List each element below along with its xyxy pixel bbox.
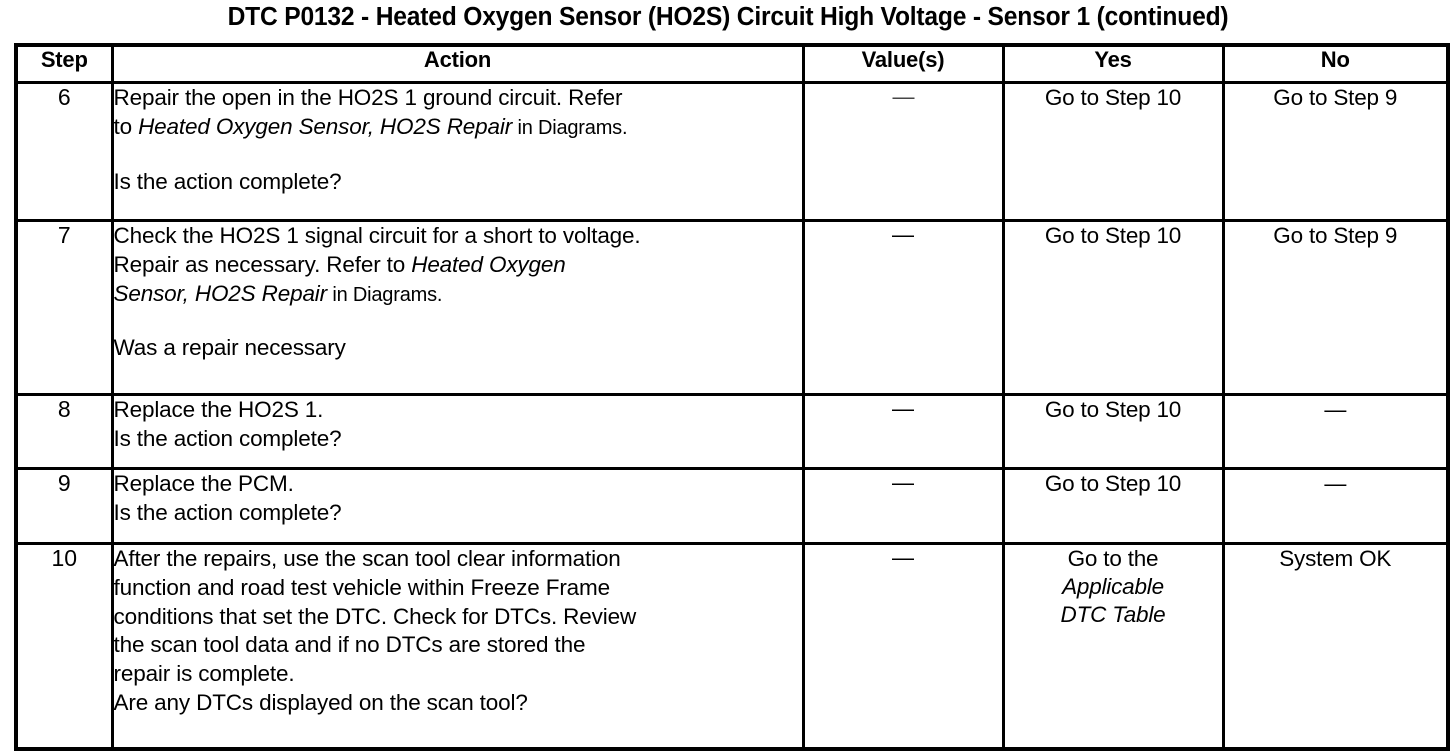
step-value: — <box>803 544 1003 749</box>
column-header-values: Value(s) <box>803 45 1003 83</box>
yes-line: Go to the <box>1005 545 1222 573</box>
action-line: the scan tool data and if no DTCs are st… <box>114 631 802 660</box>
step-no: Go to Step 9 <box>1223 221 1448 395</box>
action-line: Replace the HO2S 1. <box>114 396 802 425</box>
step-value: — <box>803 221 1003 395</box>
table-row: 9 Replace the PCM. Is the action complet… <box>16 469 1448 544</box>
table-header: Step Action Value(s) Yes No <box>16 45 1448 83</box>
action-spacer <box>114 142 802 168</box>
value-dash: — <box>893 84 914 109</box>
yes-reference-italic: DTC Table <box>1005 601 1222 629</box>
table-row: 8 Replace the HO2S 1. Is the action comp… <box>16 395 1448 469</box>
step-yes: Go to Step 10 <box>1003 83 1223 221</box>
step-no: — <box>1223 469 1448 544</box>
action-question: Is the action complete? <box>114 425 802 454</box>
action-line: Repair the open in the HO2S 1 ground cir… <box>114 84 802 113</box>
step-value: — <box>803 469 1003 544</box>
step-number: 8 <box>16 395 112 469</box>
document-page: DTC P0132 - Heated Oxygen Sensor (HO2S) … <box>0 0 1456 748</box>
table-row: 10 After the repairs, use the scan tool … <box>16 544 1448 749</box>
step-no: Go to Step 9 <box>1223 83 1448 221</box>
step-action: Replace the HO2S 1. Is the action comple… <box>112 395 803 469</box>
action-text: to <box>114 114 139 139</box>
column-header-action: Action <box>112 45 803 83</box>
step-action: Replace the PCM. Is the action complete? <box>112 469 803 544</box>
action-reference-italic: Heated Oxygen <box>411 252 565 277</box>
table-row: 7 Check the HO2S 1 signal circuit for a … <box>16 221 1448 395</box>
column-header-no: No <box>1223 45 1448 83</box>
column-header-step: Step <box>16 45 112 83</box>
step-value: — <box>803 83 1003 221</box>
step-number: 6 <box>16 83 112 221</box>
action-question: Is the action complete? <box>114 499 802 528</box>
action-line: Check the HO2S 1 signal circuit for a sh… <box>114 222 802 251</box>
step-no: System OK <box>1223 544 1448 749</box>
table-body: 6 Repair the open in the HO2S 1 ground c… <box>16 83 1448 749</box>
action-question: Was a repair necessary <box>114 334 802 363</box>
action-question: Is the action complete? <box>114 168 802 197</box>
page-title: DTC P0132 - Heated Oxygen Sensor (HO2S) … <box>25 0 1430 36</box>
column-header-yes: Yes <box>1003 45 1223 83</box>
step-number: 9 <box>16 469 112 544</box>
step-action: Repair the open in the HO2S 1 ground cir… <box>112 83 803 221</box>
action-line: Replace the PCM. <box>114 470 802 499</box>
step-no: — <box>1223 395 1448 469</box>
no-dash: — <box>1324 471 1346 496</box>
yes-reference-italic: Applicable <box>1005 573 1222 601</box>
action-text-small: in Diagrams. <box>512 117 627 139</box>
action-text-small: in Diagrams. <box>327 284 442 306</box>
action-line: Repair as necessary. Refer to Heated Oxy… <box>114 251 802 280</box>
step-action: Check the HO2S 1 signal circuit for a sh… <box>112 221 803 395</box>
action-line: repair is complete. <box>114 660 802 689</box>
action-line: Sensor, HO2S Repair in Diagrams. <box>114 280 802 309</box>
step-yes: Go to the Applicable DTC Table <box>1003 544 1223 749</box>
action-reference-italic: Sensor, HO2S Repair <box>114 281 328 306</box>
table-row: 6 Repair the open in the HO2S 1 ground c… <box>16 83 1448 221</box>
action-reference-italic: Heated Oxygen Sensor, HO2S Repair <box>138 114 512 139</box>
action-line: function and road test vehicle within Fr… <box>114 574 802 603</box>
step-value: — <box>803 395 1003 469</box>
step-yes: Go to Step 10 <box>1003 469 1223 544</box>
action-question: Are any DTCs displayed on the scan tool? <box>114 689 802 718</box>
action-line: conditions that set the DTC. Check for D… <box>114 603 802 632</box>
step-number: 10 <box>16 544 112 749</box>
table-header-row: Step Action Value(s) Yes No <box>16 45 1448 83</box>
no-dash: — <box>1324 397 1346 422</box>
action-line: After the repairs, use the scan tool cle… <box>114 545 802 574</box>
action-line: to Heated Oxygen Sensor, HO2S Repair in … <box>114 113 802 142</box>
step-yes: Go to Step 10 <box>1003 221 1223 395</box>
action-text: Repair as necessary. Refer to <box>114 252 412 277</box>
step-action: After the repairs, use the scan tool cle… <box>112 544 803 749</box>
step-yes: Go to Step 10 <box>1003 395 1223 469</box>
diagnostic-steps-table: Step Action Value(s) Yes No 6 Repair the… <box>14 43 1450 751</box>
step-number: 7 <box>16 221 112 395</box>
action-spacer <box>114 308 802 334</box>
